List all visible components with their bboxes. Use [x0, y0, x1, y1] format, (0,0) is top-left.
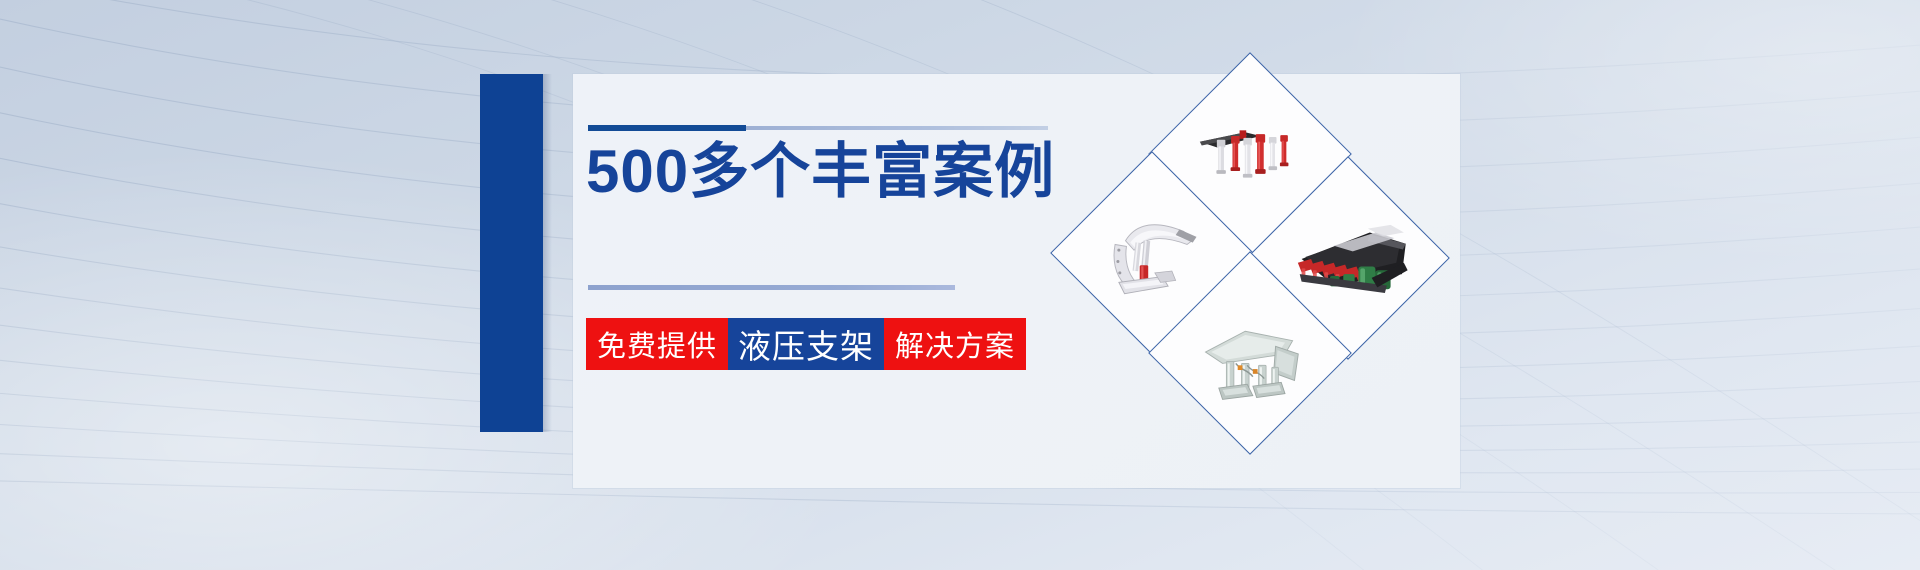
accent-bar — [480, 74, 543, 432]
gallery-tile-bottom-inner — [1179, 282, 1321, 424]
promo-banner: 500多个丰富案例 免费提供 液压支架 解决方案 — [0, 0, 1920, 570]
badge-prefix: 免费提供 — [586, 318, 728, 370]
tagline-badge: 免费提供 液压支架 解决方案 — [586, 318, 1026, 370]
top-divider-light-segment — [746, 126, 1048, 130]
badge-suffix: 解决方案 — [884, 318, 1026, 370]
mid-divider — [588, 285, 955, 290]
page-title: 500多个丰富案例 — [586, 138, 1055, 205]
badge-highlight: 液压支架 — [728, 318, 884, 370]
shield-support-icon — [1179, 278, 1321, 428]
top-divider — [588, 125, 1048, 131]
product-gallery — [1058, 78, 1418, 408]
accent-bar-shadow — [543, 74, 552, 432]
top-divider-dark-segment — [588, 125, 746, 131]
